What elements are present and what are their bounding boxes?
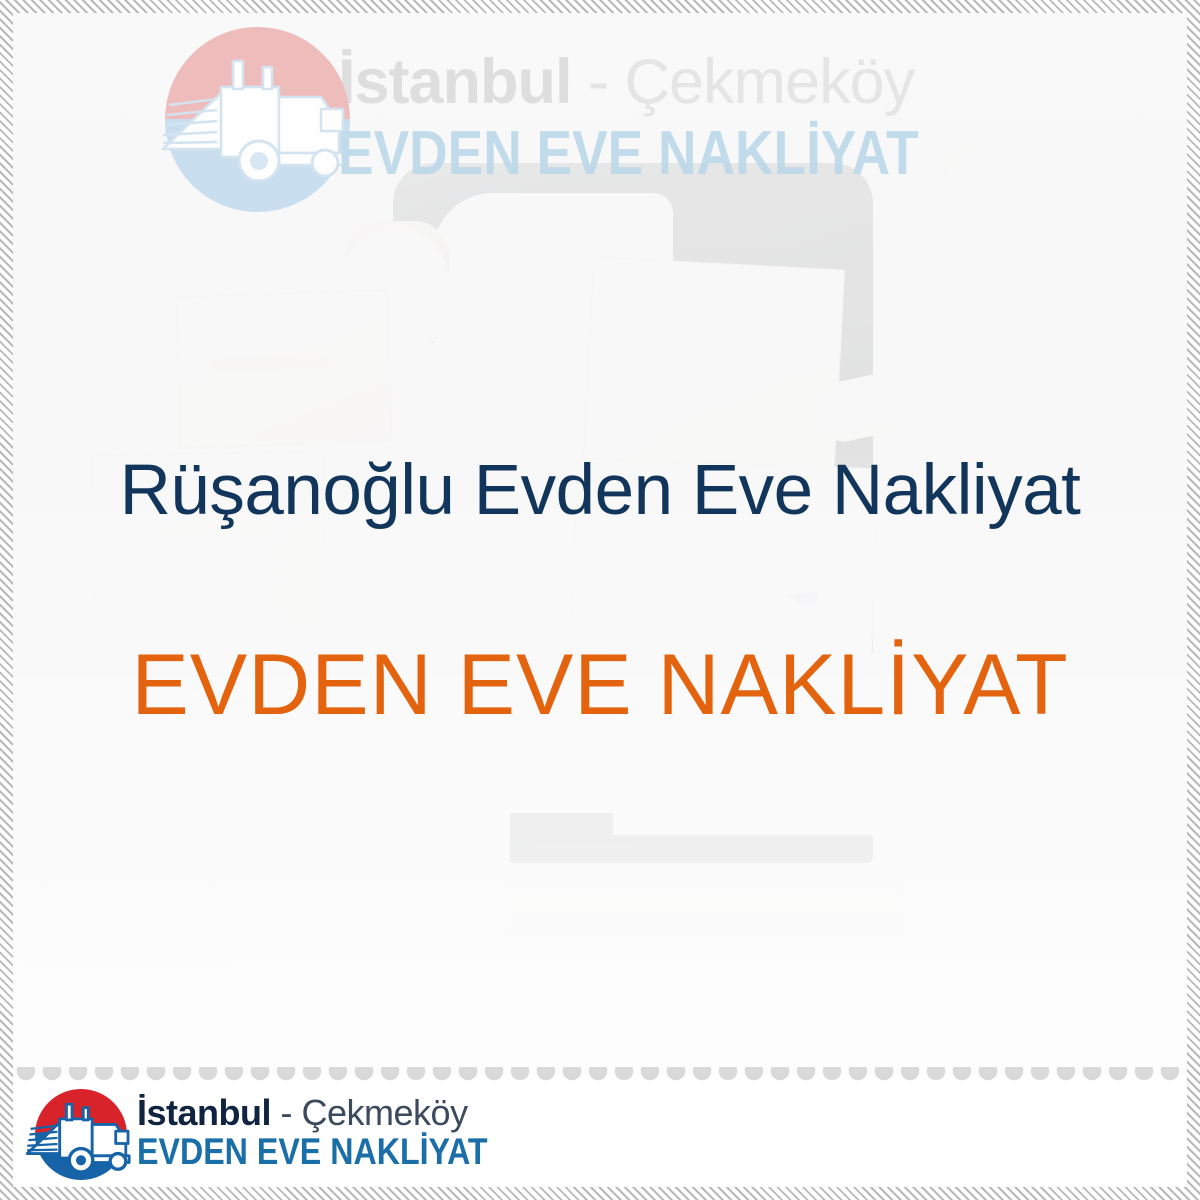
footer-city-line: İstanbul - Çekmeköy bbox=[137, 1094, 540, 1132]
moving-truck-icon bbox=[31, 1085, 131, 1179]
header-watermark-city: İstanbul bbox=[338, 47, 572, 117]
footer-logo[interactable]: İstanbul - Çekmeköy EVDEN EVE NAKLİYAT bbox=[31, 1085, 540, 1179]
footer-text: İstanbul - Çekmeköy EVDEN EVE NAKLİYAT bbox=[137, 1094, 540, 1171]
header-watermark-city-line: İstanbul - Çekmeköy bbox=[338, 51, 1013, 114]
header-watermark-text: İstanbul - Çekmeköy EVDEN EVE NAKLİYAT bbox=[338, 51, 1013, 189]
header-watermark-logo: İstanbul - Çekmeköy EVDEN EVE NAKLİYAT bbox=[165, 22, 1085, 217]
truck-glyph bbox=[159, 53, 359, 193]
header-watermark-district: Çekmeköy bbox=[625, 47, 915, 117]
truck-glyph bbox=[25, 1099, 137, 1179]
footer-separator: - bbox=[271, 1092, 302, 1133]
headline-block: Rüşanoğlu Evden Eve Nakliyat EVDEN EVE N… bbox=[0, 455, 1200, 728]
moving-truck-icon bbox=[165, 27, 350, 212]
footer-tagline: EVDEN EVE NAKLİYAT bbox=[137, 1133, 488, 1170]
header-watermark-tagline: EVDEN EVE NAKLİYAT bbox=[338, 118, 919, 189]
footer-city: İstanbul bbox=[137, 1092, 271, 1133]
page-title: Rüşanoğlu Evden Eve Nakliyat bbox=[0, 455, 1200, 526]
footer-district: Çekmeköy bbox=[302, 1092, 468, 1133]
poster-canvas: İstanbul - Çekmeköy EVDEN EVE NAKLİYAT R… bbox=[0, 0, 1200, 1200]
header-watermark-separator: - bbox=[572, 47, 625, 117]
page-subtitle: EVDEN EVE NAKLİYAT bbox=[0, 642, 1200, 728]
footer-bar: İstanbul - Çekmeköy EVDEN EVE NAKLİYAT bbox=[13, 1077, 1187, 1187]
